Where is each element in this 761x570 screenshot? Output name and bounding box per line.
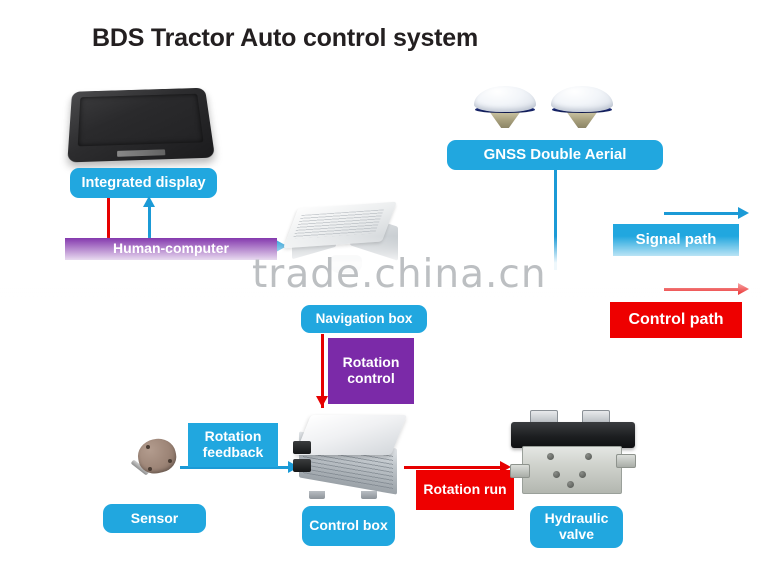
control-box-cover [295, 415, 407, 455]
navigation-mount-nub [330, 255, 362, 273]
control-box-foot [361, 491, 377, 499]
sensor-screw [148, 467, 152, 471]
control-box-connector [293, 441, 311, 454]
control-box-connector [293, 459, 311, 472]
valve-manifold-block [522, 446, 622, 494]
label-human-computer[interactable]: Human-computer [65, 238, 277, 260]
signal-arrow-up-to-display [143, 196, 155, 207]
label-control-box[interactable]: Control box [302, 506, 395, 546]
label-navigation-box[interactable]: Navigation box [301, 305, 427, 333]
label-rotation-run[interactable]: Rotation run [416, 470, 514, 510]
label-rotation-run-text: Rotation run [423, 482, 506, 498]
integrated-display-device [67, 88, 215, 163]
legend-signal-path[interactable]: Signal path [613, 224, 739, 256]
valve-bracket [510, 464, 530, 478]
valve-bracket [616, 454, 636, 468]
antenna-dome [474, 86, 536, 112]
page-title: BDS Tractor Auto control system [92, 24, 478, 53]
legend-signal-arrow-head [738, 207, 749, 219]
label-rotation-feedback[interactable]: Rotation feedback [188, 423, 278, 467]
sensor-screw [168, 459, 172, 463]
gnss-antenna-right [551, 86, 613, 130]
tablet-brand-plate [117, 149, 165, 156]
diagram-canvas: BDS Tractor Auto control system Integrat… [0, 0, 761, 570]
label-hydraulic-valve-text: Hydraulic valve [530, 511, 623, 542]
label-sensor[interactable]: Sensor [103, 504, 206, 533]
control-arrow-to-control-box [316, 396, 328, 407]
valve-solenoid-bank [511, 422, 635, 448]
hydraulic-valve-device [508, 410, 638, 502]
legend-control-path[interactable]: Control path [610, 302, 742, 338]
legend-control-arrow-head [738, 283, 749, 295]
valve-port [579, 471, 586, 478]
legend-control-arrow-line [664, 288, 740, 291]
legend-signal-arrow-line [664, 212, 740, 215]
label-rotation-control-text: Rotation control [328, 355, 414, 386]
label-rotation-feedback-text: Rotation feedback [188, 429, 278, 460]
label-gnss-double-aerial[interactable]: GNSS Double Aerial [447, 140, 663, 170]
navigation-box-device [288, 205, 400, 275]
label-rotation-control[interactable]: Rotation control [328, 338, 414, 404]
sensor-screw [146, 445, 150, 449]
antenna-base [489, 111, 521, 128]
valve-port [567, 481, 574, 488]
antenna-dome [551, 86, 613, 112]
label-hydraulic-valve[interactable]: Hydraulic valve [530, 506, 623, 548]
valve-port [547, 453, 554, 460]
control-box-device [295, 415, 403, 499]
gnss-antenna-left [474, 86, 536, 130]
tablet-screen [78, 94, 204, 147]
label-control-box-text: Control box [309, 518, 388, 534]
navigation-top-face [283, 202, 397, 249]
rotary-sensor-device [128, 437, 184, 493]
valve-port [553, 471, 560, 478]
control-line-control-to-valve [404, 466, 504, 469]
label-integrated-display[interactable]: Integrated display [70, 168, 217, 198]
control-box-foot [309, 491, 325, 499]
signal-line-gnss-down [554, 170, 557, 270]
antenna-base [566, 111, 598, 128]
valve-port [585, 453, 592, 460]
